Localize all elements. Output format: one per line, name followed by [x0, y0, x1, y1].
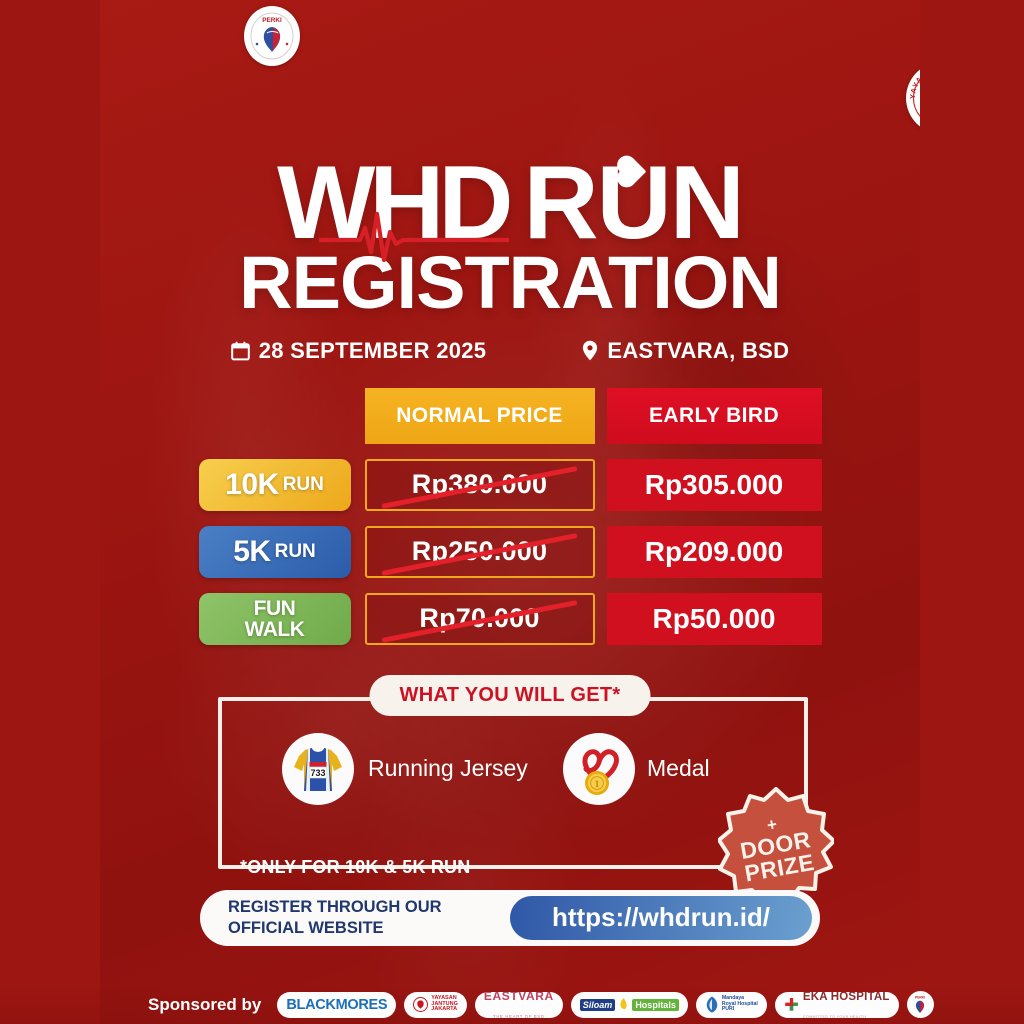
benefit-item-jersey: 733 Running Jersey [282, 733, 528, 805]
svg-text:733: 733 [310, 768, 325, 778]
benefits-note: *ONLY FOR 10K & 5K RUN [240, 857, 470, 878]
sponsor-siloam-label-1: Siloam [580, 999, 616, 1011]
poster-canvas: PERKI YAYASAN JANTUNG IND [100, 0, 920, 1024]
normal-price-fun-walk: Rp70.000 [365, 593, 595, 645]
benefit-item-medal: 1 Medal [563, 733, 710, 805]
sponsor-label: Sponsored by [148, 995, 261, 1015]
benefit-label-medal: Medal [647, 755, 710, 782]
benefits-title: WHAT YOU WILL GET* [370, 675, 651, 716]
category-badge-10k: 10K RUN [199, 459, 351, 511]
early-price-fun-walk: Rp50.000 [607, 593, 822, 645]
sponsor-eastvara-sub: THE HEART OF BSD [493, 1014, 545, 1018]
event-date-label: 28 SEPTEMBER 2025 [259, 338, 487, 364]
ecg-heartbeat-icon [319, 210, 509, 264]
category-badge-5k: 5K RUN [199, 526, 351, 578]
sponsor-bar: Sponsored by BLACKMORES YAYASAN JANTUNG … [0, 985, 1024, 1024]
sponsor-eastvara-block: EASTVARA THE HEART OF BSD [484, 992, 554, 1018]
mandaya-mark-icon [705, 996, 719, 1013]
sponsor-blackmores-label: BLACKMORES [286, 997, 387, 1013]
event-meta-row: 28 SEPTEMBER 2025 EASTVARA, BSD [100, 338, 920, 364]
benefit-label-jersey: Running Jersey [368, 755, 528, 782]
sponsor-eka-block: EKA HOSPITAL COMMITTED TO YOUR HEALTH [803, 992, 890, 1018]
sponsor-eka-label: EKA HOSPITAL [803, 992, 890, 1003]
price-table: NORMAL PRICE EARLY BIRD 10K RUN Rp380.00… [100, 388, 920, 645]
calendar-icon [231, 341, 250, 361]
category-fun-big: FUN [254, 598, 296, 619]
register-bar[interactable]: REGISTER THROUGH OUR OFFICIAL WEBSITE ht… [200, 890, 820, 946]
category-10k-big: 10K [225, 468, 279, 502]
eka-cross-icon [784, 997, 799, 1012]
sponsor-eastvara: EASTVARA THE HEART OF BSD [475, 992, 563, 1018]
sponsor-yayasan-jantung-jakarta: YAYASAN JANTUNG JAKARTA [404, 992, 467, 1018]
medal-icon: 1 [563, 733, 635, 805]
column-header-normal-price: NORMAL PRICE [365, 388, 595, 444]
normal-price-10k: Rp380.000 [365, 459, 595, 511]
svg-text:1: 1 [595, 779, 600, 789]
event-location-label: EASTVARA, BSD [607, 338, 789, 364]
category-fun-small: WALK [245, 619, 305, 640]
yayasan-jantung-indonesia-logo-icon: YAYASAN JANTUNG INDONESIA [906, 62, 920, 134]
perki-mark-icon: PERKI [909, 993, 931, 1017]
table-corner-spacer [199, 388, 351, 444]
title-run: RUN [524, 156, 743, 252]
sponsor-yjj-lines: YAYASAN JANTUNG JAKARTA [431, 996, 458, 1013]
map-pin-icon [582, 340, 598, 361]
yjj-mark-icon [413, 997, 428, 1012]
sponsor-perki: PERKI [907, 991, 934, 1018]
early-price-5k: Rp209.000 [607, 526, 822, 578]
title-block: WHD RUN REGISTRATION [100, 132, 920, 318]
register-instruction-line2: OFFICIAL WEBSITE [228, 918, 442, 939]
sponsor-siloam-label-2: Hospitals [632, 999, 679, 1011]
register-instruction: REGISTER THROUGH OUR OFFICIAL WEBSITE [228, 897, 442, 938]
poster-stage: PERKI YAYASAN JANTUNG IND [0, 0, 1024, 1024]
event-date: 28 SEPTEMBER 2025 [231, 338, 487, 364]
register-url-button[interactable]: https://whdrun.id/ [510, 896, 812, 940]
siloam-leaf-icon [619, 998, 628, 1012]
page-subtitle: REGISTRATION [100, 248, 920, 318]
category-5k-big: 5K [233, 535, 270, 569]
sponsor-mandaya-lines: Mandaya Royal Hospital PURI [722, 996, 758, 1014]
category-10k-small: RUN [283, 474, 324, 496]
svg-text:PERKI: PERKI [915, 995, 925, 999]
svg-text:PERKI: PERKI [262, 17, 282, 24]
early-price-10k: Rp305.000 [607, 459, 822, 511]
sponsor-eka-hospital: EKA HOSPITAL COMMITTED TO YOUR HEALTH [775, 992, 899, 1018]
register-instruction-line1: REGISTER THROUGH OUR [228, 897, 442, 918]
perki-logo-icon: PERKI [244, 6, 300, 66]
benefits-section: WHAT YOU WILL GET* 733 Runni [100, 675, 920, 880]
sponsor-siloam-hospitals: Siloam Hospitals [571, 992, 688, 1018]
event-location: EASTVARA, BSD [582, 338, 789, 364]
sponsor-blackmores: BLACKMORES [277, 992, 396, 1018]
sponsor-eastvara-label: EASTVARA [484, 992, 554, 1003]
column-header-early-bird: EARLY BIRD [607, 388, 822, 444]
normal-price-5k: Rp250.000 [365, 526, 595, 578]
running-jersey-icon: 733 [282, 733, 354, 805]
sponsor-eka-sub: COMMITTED TO YOUR HEALTH [803, 1015, 866, 1018]
sponsor-mandaya-royal-hospital: Mandaya Royal Hospital PURI [696, 992, 767, 1018]
category-5k-small: RUN [275, 541, 316, 563]
category-badge-fun-walk: FUN WALK [199, 593, 351, 645]
